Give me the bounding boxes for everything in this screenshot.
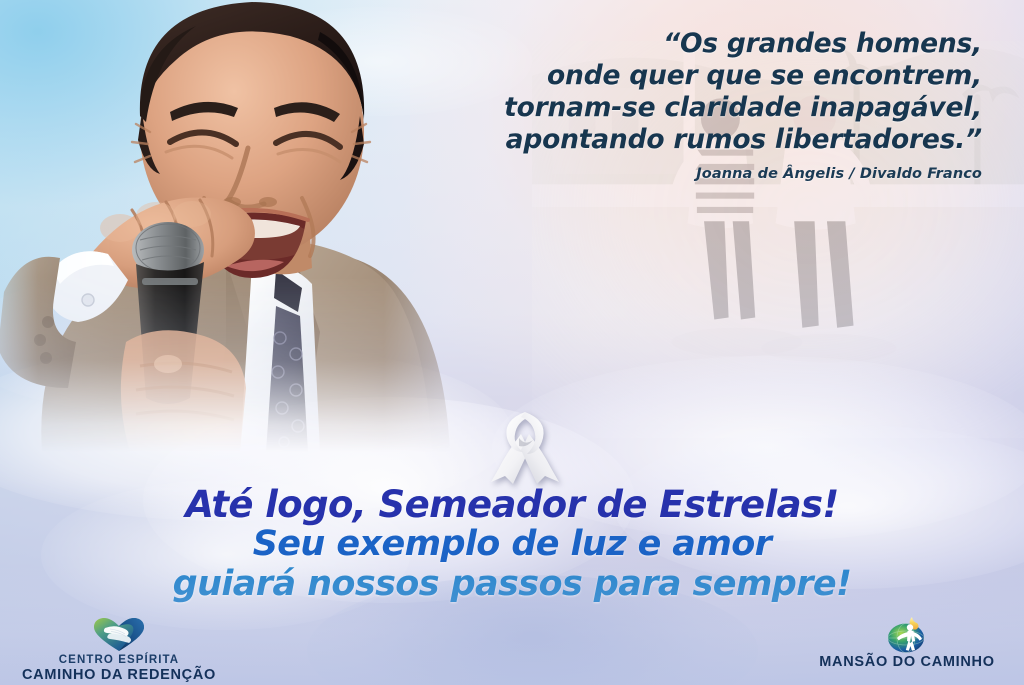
quote-line-3: tornam-se claridade inapagável,	[422, 92, 982, 124]
memorial-poster: “Os grandes homens, onde quer que se enc…	[0, 0, 1024, 685]
headline-line-1: Até logo, Semeador de Estrelas!	[0, 484, 1024, 525]
headline-block: Até logo, Semeador de Estrelas! Seu exem…	[0, 484, 1024, 604]
quote-line-1: “Os grandes homens,	[422, 28, 982, 60]
logo-right-text: MANSÃO DO CAMINHO	[800, 654, 1014, 671]
logo-right-line-2: MANSÃO DO CAMINHO	[800, 654, 1014, 671]
quote-attribution: Joanna de Ângelis / Divaldo Franco	[422, 166, 982, 182]
logo-mansao-do-caminho: MANSÃO DO CAMINHO	[800, 618, 1014, 671]
globe-figure-flame-icon	[800, 618, 1014, 652]
quote-line-4: apontando rumos libertadores.”	[422, 124, 982, 156]
heart-hands-icon	[14, 618, 224, 652]
logo-left-line-2: CAMINHO DA REDENÇÃO	[14, 667, 224, 684]
white-mourning-ribbon-icon	[487, 408, 563, 488]
headline-line-2: Seu exemplo de luz e amor	[0, 525, 1024, 564]
logo-left-text: CENTRO ESPÍRITA CAMINHO DA REDENÇÃO	[14, 654, 224, 684]
quote-line-2: onde quer que se encontrem,	[422, 60, 982, 92]
logo-left-line-1: CENTRO ESPÍRITA	[14, 654, 224, 667]
portrait-photo	[0, 0, 470, 452]
quote-block: “Os grandes homens, onde quer que se enc…	[422, 28, 982, 182]
logo-centro-espirita: CENTRO ESPÍRITA CAMINHO DA REDENÇÃO	[14, 618, 224, 684]
headline-line-3: guiará nossos passos para sempre!	[0, 564, 1024, 604]
